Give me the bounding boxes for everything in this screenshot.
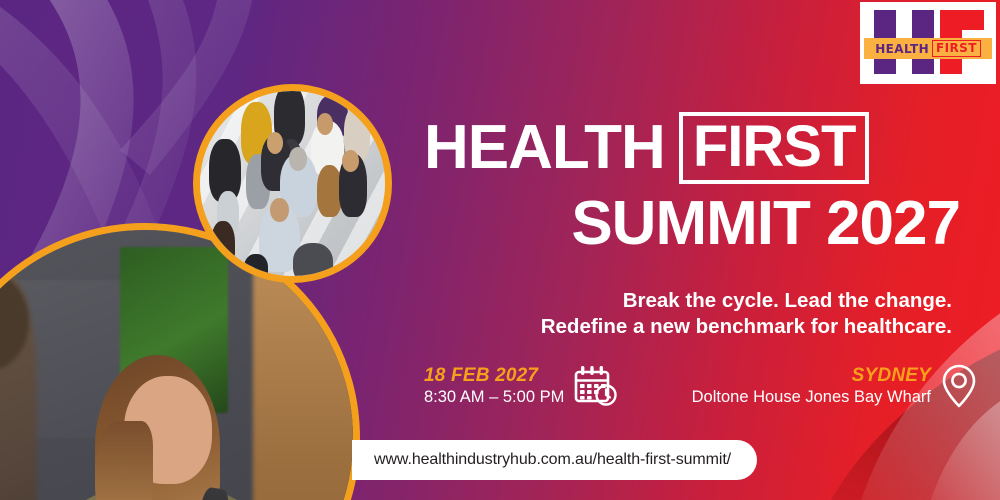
logo-word-first: FIRST: [932, 40, 981, 57]
event-promo-banner: HEALTH FIRST: [0, 0, 1000, 500]
health-first-logo: HEALTH FIRST: [860, 2, 996, 84]
tagline-line-2: Redefine a new benchmark for healthcare.: [392, 314, 952, 340]
logo-word-health: HEALTH: [875, 42, 929, 56]
event-url-pill[interactable]: www.healthindustryhub.com.au/health-firs…: [352, 440, 757, 480]
networking-photo-circle: [193, 84, 392, 283]
headline-summit-year: SUMMIT 2027: [424, 192, 964, 256]
headline-line-1: HEALTH FIRST: [424, 112, 964, 184]
event-details-row: 18 FEB 2027 8:30 AM – 5:00 PM: [424, 362, 978, 410]
location-block: SYDNEY Doltone House Jones Bay Wharf: [692, 362, 978, 410]
calendar-clock-icon: [573, 364, 619, 408]
event-url-text: www.healthindustryhub.com.au/health-firs…: [374, 451, 731, 469]
headline-block: HEALTH FIRST SUMMIT 2027: [424, 112, 964, 256]
headline-word-health: HEALTH: [424, 116, 665, 180]
event-venue: Doltone House Jones Bay Wharf: [692, 387, 931, 408]
event-date: 18 FEB 2027: [424, 365, 564, 387]
headline-line-2: SUMMIT 2027: [424, 192, 964, 256]
logo-f-top-arm: [940, 10, 984, 30]
tagline-line-1: Break the cycle. Lead the change.: [392, 288, 952, 314]
networking-photo: [200, 91, 385, 276]
tagline-block: Break the cycle. Lead the change. Redefi…: [392, 288, 952, 340]
event-time: 8:30 AM – 5:00 PM: [424, 387, 564, 408]
headline-word-first-boxed: FIRST: [679, 112, 870, 184]
event-city: SYDNEY: [692, 365, 931, 387]
logo-wordmark-band: HEALTH FIRST: [864, 38, 992, 59]
map-pin-icon: [940, 362, 978, 410]
date-time-block: 18 FEB 2027 8:30 AM – 5:00 PM: [424, 364, 619, 408]
